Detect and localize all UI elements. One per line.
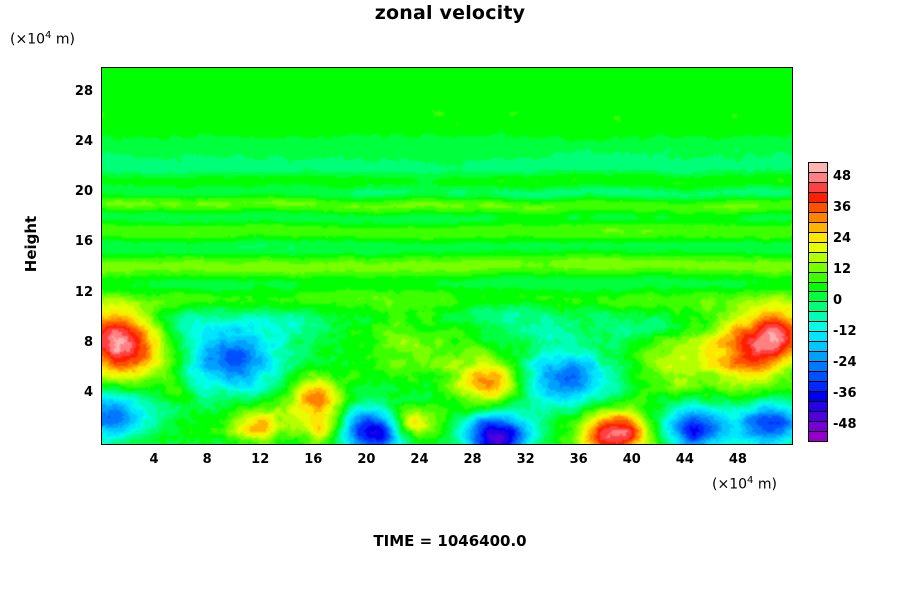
x-axis-tick-label: 28 bbox=[453, 452, 493, 467]
x-axis-tick-label: 40 bbox=[612, 452, 652, 467]
x-axis-tick-label: 44 bbox=[665, 452, 705, 467]
time-annotation: TIME = 1046400.0 bbox=[0, 532, 900, 550]
colorbar-tick-label: 24 bbox=[833, 231, 851, 246]
colorbar-cell bbox=[809, 382, 827, 392]
colorbar-cell bbox=[809, 163, 827, 173]
x-axis-tick-label: 4 bbox=[134, 452, 174, 467]
colorbar-cell bbox=[809, 392, 827, 402]
x-unit-prefix: (×10 bbox=[712, 477, 747, 493]
y-axis-tick-label: 20 bbox=[47, 184, 93, 199]
colorbar-cell bbox=[809, 402, 827, 412]
colorbar-cell bbox=[809, 233, 827, 243]
colorbar-cell bbox=[809, 302, 827, 312]
x-axis-tick-label: 36 bbox=[559, 452, 599, 467]
y-unit-suffix: m) bbox=[51, 32, 75, 48]
colorbar-cell bbox=[809, 263, 827, 273]
colorbar-tick-label: 36 bbox=[833, 200, 851, 215]
y-axis-tick-label: 24 bbox=[47, 134, 93, 149]
colorbar-cell bbox=[809, 203, 827, 213]
colorbar-cell bbox=[809, 213, 827, 223]
colorbar-cell bbox=[809, 412, 827, 422]
colorbar-cell bbox=[809, 322, 827, 332]
colorbar-cell bbox=[809, 292, 827, 302]
colorbar-cell bbox=[809, 342, 827, 352]
colorbar bbox=[808, 162, 828, 442]
y-axis-tick-label: 28 bbox=[47, 84, 93, 99]
colorbar-cell bbox=[809, 422, 827, 432]
colorbar-cell bbox=[809, 332, 827, 342]
colorbar-cell bbox=[809, 193, 827, 203]
colorbar-cell bbox=[809, 273, 827, 283]
x-axis-tick-label: 32 bbox=[506, 452, 546, 467]
y-axis-tick-label: 8 bbox=[47, 335, 93, 350]
y-axis-title: Height bbox=[22, 194, 40, 294]
x-axis-unit-label: (×104 m) bbox=[712, 475, 777, 493]
colorbar-cell bbox=[809, 253, 827, 263]
colorbar-tick-label: -12 bbox=[833, 324, 857, 339]
colorbar-cell bbox=[809, 173, 827, 183]
colorbar-cell bbox=[809, 372, 827, 382]
colorbar-cell bbox=[809, 243, 827, 253]
colorbar-cell bbox=[809, 223, 827, 233]
page-title: zonal velocity bbox=[0, 2, 900, 24]
colorbar-cell bbox=[809, 362, 827, 372]
contour-plot-area bbox=[101, 67, 793, 445]
y-axis-tick-label: 4 bbox=[47, 385, 93, 400]
x-axis-tick-label: 16 bbox=[293, 452, 333, 467]
x-unit-suffix: m) bbox=[753, 477, 777, 493]
colorbar-tick-label: -24 bbox=[833, 355, 857, 370]
colorbar-cell bbox=[809, 183, 827, 193]
colorbar-tick-label: 48 bbox=[833, 169, 851, 184]
colorbar-cell bbox=[809, 432, 827, 441]
x-axis-tick-label: 24 bbox=[399, 452, 439, 467]
colorbar-tick-label: -36 bbox=[833, 386, 857, 401]
x-axis-tick-label: 48 bbox=[718, 452, 758, 467]
colorbar-cell bbox=[809, 312, 827, 322]
x-axis-tick-label: 8 bbox=[187, 452, 227, 467]
colorbar-tick-label: 0 bbox=[833, 293, 842, 308]
colorbar-tick-label: 12 bbox=[833, 262, 851, 277]
velocity-field-canvas bbox=[102, 68, 792, 444]
x-axis-tick-label: 12 bbox=[240, 452, 280, 467]
colorbar-cell bbox=[809, 283, 827, 293]
x-axis-tick-label: 20 bbox=[346, 452, 386, 467]
y-unit-prefix: (×10 bbox=[10, 32, 45, 48]
y-axis-tick-label: 12 bbox=[47, 285, 93, 300]
colorbar-cell bbox=[809, 352, 827, 362]
colorbar-tick-label: -48 bbox=[833, 417, 857, 432]
y-axis-tick-label: 16 bbox=[47, 234, 93, 249]
y-axis-unit-label: (×104 m) bbox=[10, 30, 75, 48]
